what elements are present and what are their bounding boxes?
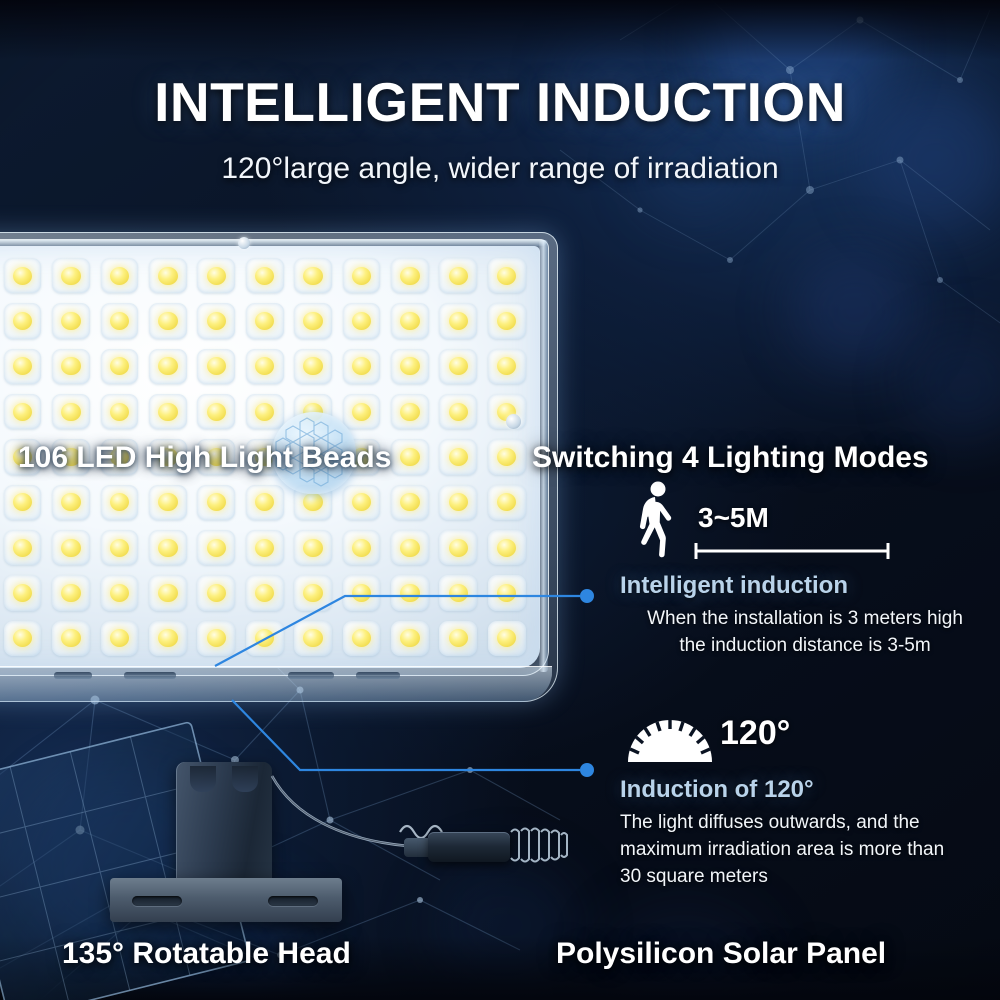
led-bead [337, 344, 385, 389]
led-bead [289, 525, 337, 570]
led-phosphor-dot [13, 539, 32, 557]
housing-vent [124, 672, 176, 679]
dimension-line [692, 540, 892, 562]
led-phosphor-dot [400, 448, 419, 466]
led-phosphor-dot [61, 312, 80, 330]
led-phosphor-dot [158, 584, 177, 602]
led-bead [47, 525, 95, 570]
led-bead [95, 344, 143, 389]
led-bead [47, 298, 95, 343]
bracket-screw-slot [132, 896, 182, 906]
led-bead [289, 570, 337, 615]
led-bead [192, 616, 240, 661]
led-bead [144, 298, 192, 343]
led-phosphor-dot [303, 267, 322, 285]
housing-screw-icon [506, 414, 521, 429]
led-phosphor-dot [110, 267, 129, 285]
led-bead [386, 344, 434, 389]
led-bead [386, 480, 434, 525]
led-phosphor-dot [400, 493, 419, 511]
led-phosphor-dot [207, 312, 226, 330]
led-bead [0, 480, 47, 525]
led-phosphor-dot [449, 584, 468, 602]
led-phosphor-dot [449, 267, 468, 285]
product-infographic: INTELLIGENT INDUCTION 120°large angle, w… [0, 0, 1000, 1000]
led-phosphor-dot [61, 403, 80, 421]
housing-vent [288, 672, 334, 679]
led-bead [483, 480, 531, 525]
led-bead [95, 480, 143, 525]
led-phosphor-dot [61, 539, 80, 557]
led-bead [47, 344, 95, 389]
led-bead [386, 298, 434, 343]
led-phosphor-dot [158, 629, 177, 647]
led-bead [95, 298, 143, 343]
led-bead [434, 525, 482, 570]
led-phosphor-dot [400, 403, 419, 421]
led-phosphor-dot [110, 312, 129, 330]
led-bead [95, 525, 143, 570]
led-bead [434, 253, 482, 298]
callout-intelligent-induction: 3~5M Intelligent induction When the inst… [620, 480, 990, 660]
led-bead [386, 434, 434, 479]
led-bead [386, 616, 434, 661]
callout-body-line: The light diffuses outwards, and the [620, 810, 990, 837]
callout-body-line: When the installation is 3 meters high [620, 606, 990, 633]
callout-body-line: 30 square meters [620, 864, 990, 891]
led-bead [483, 389, 531, 434]
led-bead [144, 616, 192, 661]
led-bead [192, 480, 240, 525]
led-bead [241, 570, 289, 615]
led-bead [144, 525, 192, 570]
led-phosphor-dot [61, 267, 80, 285]
led-phosphor-dot [303, 584, 322, 602]
page-title: INTELLIGENT INDUCTION [0, 70, 1000, 134]
led-bead [241, 253, 289, 298]
led-bead [434, 298, 482, 343]
led-bead [434, 434, 482, 479]
led-bead [0, 253, 47, 298]
led-bead [192, 570, 240, 615]
led-phosphor-dot [255, 267, 274, 285]
led-bead [434, 570, 482, 615]
led-phosphor-dot [207, 539, 226, 557]
led-bead [95, 570, 143, 615]
led-phosphor-dot [400, 584, 419, 602]
led-phosphor-dot [303, 312, 322, 330]
led-phosphor-dot [158, 493, 177, 511]
led-bead [47, 389, 95, 434]
caption-rotatable-head: 135° Rotatable Head [62, 937, 351, 971]
led-bead [47, 616, 95, 661]
led-phosphor-dot [400, 629, 419, 647]
led-bead [434, 389, 482, 434]
led-phosphor-dot [352, 267, 371, 285]
led-bead [241, 298, 289, 343]
led-bead [0, 525, 47, 570]
led-phosphor-dot [207, 584, 226, 602]
led-phosphor-dot [449, 312, 468, 330]
led-phosphor-dot [497, 267, 516, 285]
led-bead [289, 298, 337, 343]
led-phosphor-dot [158, 267, 177, 285]
housing-screw-icon [238, 237, 250, 249]
protractor-icon [624, 714, 716, 770]
cable-strain-relief [508, 826, 570, 866]
led-phosphor-dot [158, 403, 177, 421]
led-bead [337, 616, 385, 661]
led-bead [144, 253, 192, 298]
led-phosphor-dot [449, 403, 468, 421]
led-bead [95, 389, 143, 434]
led-bead [192, 344, 240, 389]
led-bead [434, 480, 482, 525]
led-bead [144, 570, 192, 615]
led-bead [192, 298, 240, 343]
led-bead [0, 616, 47, 661]
led-phosphor-dot [110, 539, 129, 557]
callout-body-line: maximum irradiation area is more than [620, 837, 990, 864]
led-bead [434, 616, 482, 661]
led-bead [337, 525, 385, 570]
led-bead [47, 570, 95, 615]
led-bead [144, 389, 192, 434]
housing-vent [356, 672, 400, 679]
led-bead [386, 389, 434, 434]
led-phosphor-dot [61, 584, 80, 602]
led-phosphor-dot [449, 539, 468, 557]
led-phosphor-dot [158, 312, 177, 330]
led-bead [192, 389, 240, 434]
dc-barrel-connector [428, 832, 510, 862]
led-bead [434, 344, 482, 389]
led-bead [386, 525, 434, 570]
led-bead [241, 344, 289, 389]
led-bead [0, 389, 47, 434]
callout-body-line: the induction distance is 3-5m [620, 633, 990, 660]
caption-led-beads: 106 LED High Light Beads [18, 441, 391, 475]
induction-angle-badge: 120° [720, 714, 790, 753]
led-phosphor-dot [110, 403, 129, 421]
led-bead [483, 616, 531, 661]
led-phosphor-dot [13, 267, 32, 285]
led-bead [47, 253, 95, 298]
led-phosphor-dot [400, 539, 419, 557]
led-bead [483, 434, 531, 479]
caption-lighting-modes: Switching 4 Lighting Modes [532, 441, 929, 475]
induction-distance-badge: 3~5M [698, 502, 769, 534]
led-phosphor-dot [158, 357, 177, 375]
led-phosphor-dot [400, 267, 419, 285]
lamp-top-edge [0, 240, 546, 246]
led-phosphor-dot [13, 403, 32, 421]
caption-solar-panel: Polysilicon Solar Panel [556, 937, 886, 971]
callout-title-intelligent-induction: Intelligent induction [620, 572, 990, 600]
walking-person-icon [628, 480, 684, 566]
led-bead [144, 344, 192, 389]
callout-induction-120: 120° Induction of 120° The light diffuse… [620, 712, 990, 891]
led-bead [0, 298, 47, 343]
led-phosphor-dot [158, 539, 177, 557]
led-bead [95, 616, 143, 661]
led-bead [386, 253, 434, 298]
led-phosphor-dot [400, 357, 419, 375]
led-bead [386, 570, 434, 615]
led-phosphor-dot [352, 539, 371, 557]
led-bead [241, 616, 289, 661]
housing-vent [54, 672, 92, 679]
led-bead [289, 344, 337, 389]
led-phosphor-dot [61, 629, 80, 647]
led-bead [483, 344, 531, 389]
led-bead [337, 570, 385, 615]
led-phosphor-dot [207, 267, 226, 285]
led-phosphor-dot [61, 493, 80, 511]
led-bead [241, 525, 289, 570]
led-bead [483, 525, 531, 570]
led-bead [289, 253, 337, 298]
led-bead [483, 570, 531, 615]
top-fade [0, 0, 1000, 60]
led-phosphor-dot [449, 448, 468, 466]
led-bead [337, 253, 385, 298]
led-bead [192, 525, 240, 570]
led-bead [289, 616, 337, 661]
led-bead [47, 480, 95, 525]
led-bead [192, 253, 240, 298]
led-bead [337, 298, 385, 343]
led-phosphor-dot [497, 539, 516, 557]
page-subtitle: 120°large angle, wider range of irradiat… [0, 152, 1000, 186]
led-bead [144, 480, 192, 525]
led-phosphor-dot [61, 357, 80, 375]
led-bead [483, 253, 531, 298]
led-phosphor-dot [255, 539, 274, 557]
led-bead [95, 253, 143, 298]
led-phosphor-dot [303, 539, 322, 557]
led-phosphor-dot [207, 403, 226, 421]
led-phosphor-dot [400, 312, 419, 330]
led-bead [483, 298, 531, 343]
led-phosphor-dot [110, 584, 129, 602]
led-bead [0, 344, 47, 389]
callout-title-induction-120: Induction of 120° [620, 776, 990, 804]
led-bead [0, 570, 47, 615]
